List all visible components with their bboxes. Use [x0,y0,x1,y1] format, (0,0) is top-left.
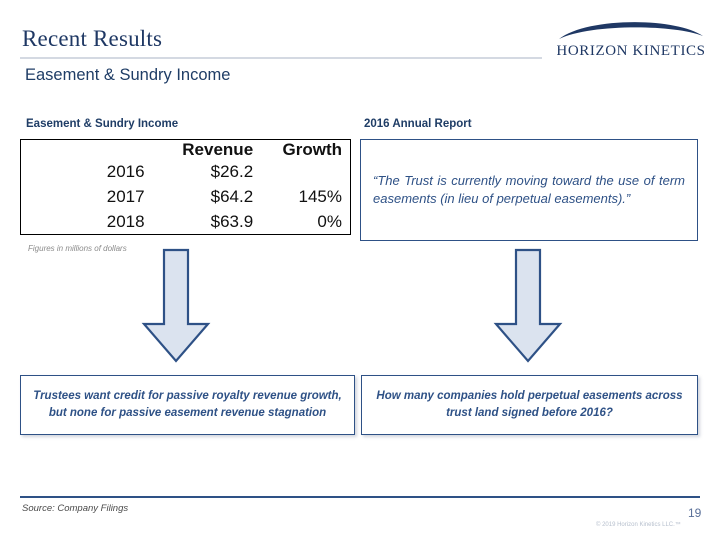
left-section-label: Easement & Sundry Income [26,118,178,130]
footer-divider [20,496,700,498]
down-arrow-icon [141,248,211,364]
table-footnote: Figures in millions of dollars [28,244,127,253]
table-row: 2016 $26.2 [21,160,350,185]
revenue-table: Revenue Growth 2016 $26.2 2017 $64.2 145… [20,139,351,235]
right-section-label: 2016 Annual Report [364,118,472,130]
cell-revenue: $64.2 [153,185,262,210]
page-title: Recent Results [22,26,162,52]
cell-year: 2018 [21,209,153,234]
right-conclusion-box: How many companies hold perpetual easeme… [361,375,698,435]
right-conclusion-text: How many companies hold perpetual easeme… [372,388,687,421]
cell-growth [261,160,350,185]
cell-growth: 145% [261,185,350,210]
source-note: Source: Company Filings [22,503,128,514]
cell-growth: 0% [261,209,350,234]
annual-report-quote-box: “The Trust is currently moving toward th… [360,139,698,241]
svg-text:HORIZON KINETICS: HORIZON KINETICS [557,43,705,58]
left-conclusion-box: Trustees want credit for passive royalty… [20,375,355,435]
quote-text: “The Trust is currently moving toward th… [373,172,685,207]
cell-revenue: $63.9 [153,209,262,234]
cell-revenue: $26.2 [153,160,262,185]
table-row: 2017 $64.2 145% [21,185,350,210]
horizon-kinetics-logo: HORIZON KINETICS [557,12,705,58]
slide: Recent Results Easement & Sundry Income … [0,0,720,540]
cell-year: 2017 [21,185,153,210]
column-header-growth: Growth [261,140,350,160]
page-subtitle: Easement & Sundry Income [25,66,230,85]
title-divider [20,57,542,59]
page-number: 19 [688,506,701,520]
copyright-notice: © 2019 Horizon Kinetics LLC.™ [596,522,681,528]
left-conclusion-text: Trustees want credit for passive royalty… [31,388,344,421]
cell-year: 2016 [21,160,153,185]
column-header-revenue: Revenue [153,140,262,160]
column-header-year [21,140,153,160]
down-arrow-icon [493,248,563,364]
table-row: 2018 $63.9 0% [21,209,350,234]
table-header-row: Revenue Growth [21,140,350,160]
